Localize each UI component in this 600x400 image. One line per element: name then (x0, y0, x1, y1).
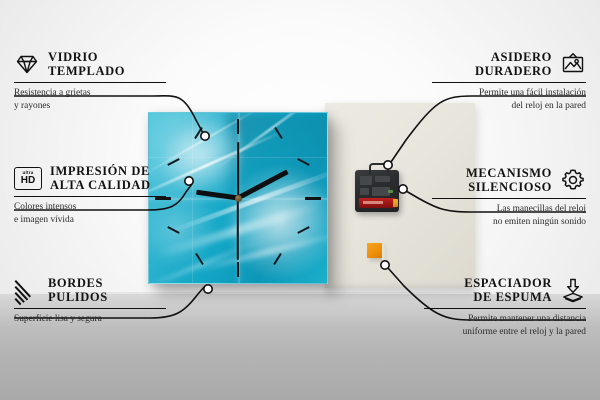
feature-title-line1: VIDRIO (48, 50, 125, 64)
feature-subtitle-line2: y rayones (14, 100, 166, 112)
feature-title-line2: PULIDOS (48, 290, 108, 304)
clock-second-hand-tail (237, 142, 239, 198)
clock-tick-12 (237, 119, 239, 134)
ultra-hd-badge-icon: ultra HD (14, 167, 42, 190)
feature-subtitle-line2: del reloj en la pared (432, 100, 586, 112)
feature-mecanismo-silencioso: MECANISMO SILENCIOSO Las manecillas del … (432, 166, 586, 228)
mechanism-detail (360, 176, 372, 185)
feature-subtitle-line1: Resistencia a grietas (14, 87, 166, 99)
diamond-icon (14, 51, 40, 77)
feature-subtitle-line1: Colores intensos (14, 201, 166, 213)
feature-title-line2: ALTA CALIDAD (50, 178, 151, 192)
feature-title-line2: TEMPLADO (48, 64, 125, 78)
feature-divider (424, 308, 586, 310)
mechanism-detail (375, 176, 390, 182)
polished-edges-icon (14, 279, 40, 301)
clock-center-pivot (235, 195, 242, 202)
feature-subtitle-line1: Las manecillas del reloj (432, 203, 586, 215)
clock-tick-3 (305, 197, 321, 200)
feature-title-line1: IMPRESIÓN DE (50, 164, 151, 178)
mechanism-indicator (388, 190, 393, 193)
feature-divider (432, 82, 586, 84)
battery-label-band (363, 201, 383, 204)
foam-spacer-icon (560, 277, 586, 303)
feature-title-line1: BORDES (48, 276, 108, 290)
foam-spacer (367, 243, 382, 258)
gear-icon (560, 167, 586, 193)
feature-title-line1: ASIDERO (475, 50, 552, 64)
feature-divider (14, 82, 166, 84)
feature-title-line2: SILENCIOSO (466, 180, 552, 194)
hd-label: HD (21, 176, 35, 186)
battery (359, 198, 395, 208)
feature-subtitle-line1: Permite mantener una distancia (424, 313, 586, 325)
feature-asidero-duradero: ASIDERO DURADERO Permite una fácil insta… (432, 50, 586, 112)
feature-divider (432, 198, 586, 200)
feature-subtitle-line1: Superficie lisa y segura (14, 313, 166, 325)
picture-hanger-icon (560, 51, 586, 77)
feature-title-line1: ESPACIADOR (464, 276, 552, 290)
feature-divider (14, 308, 166, 310)
feature-subtitle-line2: e imagen vívida (14, 214, 166, 226)
feature-divider (14, 196, 166, 198)
mechanism-hanger-hook (369, 163, 389, 174)
feature-vidrio-templado: VIDRIO TEMPLADO Resistencia a grietas y … (14, 50, 166, 112)
feature-subtitle-line2: no emiten ningún sonido (432, 216, 586, 228)
feature-subtitle-line1: Permite una fácil instalación (432, 87, 586, 99)
mechanism-detail (360, 188, 369, 195)
glass-wall-clock (148, 112, 328, 284)
feature-title-line2: DURADERO (475, 64, 552, 78)
clock-mechanism (355, 170, 399, 212)
feature-impresion-alta-calidad: ultra HD IMPRESIÓN DE ALTA CALIDAD Color… (14, 164, 166, 226)
feature-subtitle-line2: uniforme entre el reloj y la pared (424, 326, 586, 338)
feature-title-line2: DE ESPUMA (464, 290, 552, 304)
feature-espaciador-de-espuma: ESPACIADOR DE ESPUMA Permite mantener un… (424, 276, 586, 338)
infographic-canvas: VIDRIO TEMPLADO Resistencia a grietas y … (0, 0, 600, 400)
clock-second-hand (237, 198, 239, 260)
feature-title-line1: MECANISMO (466, 166, 552, 180)
feature-bordes-pulidos: BORDES PULIDOS Superficie lisa y segura (14, 276, 166, 326)
clock-tick-6 (237, 262, 239, 277)
